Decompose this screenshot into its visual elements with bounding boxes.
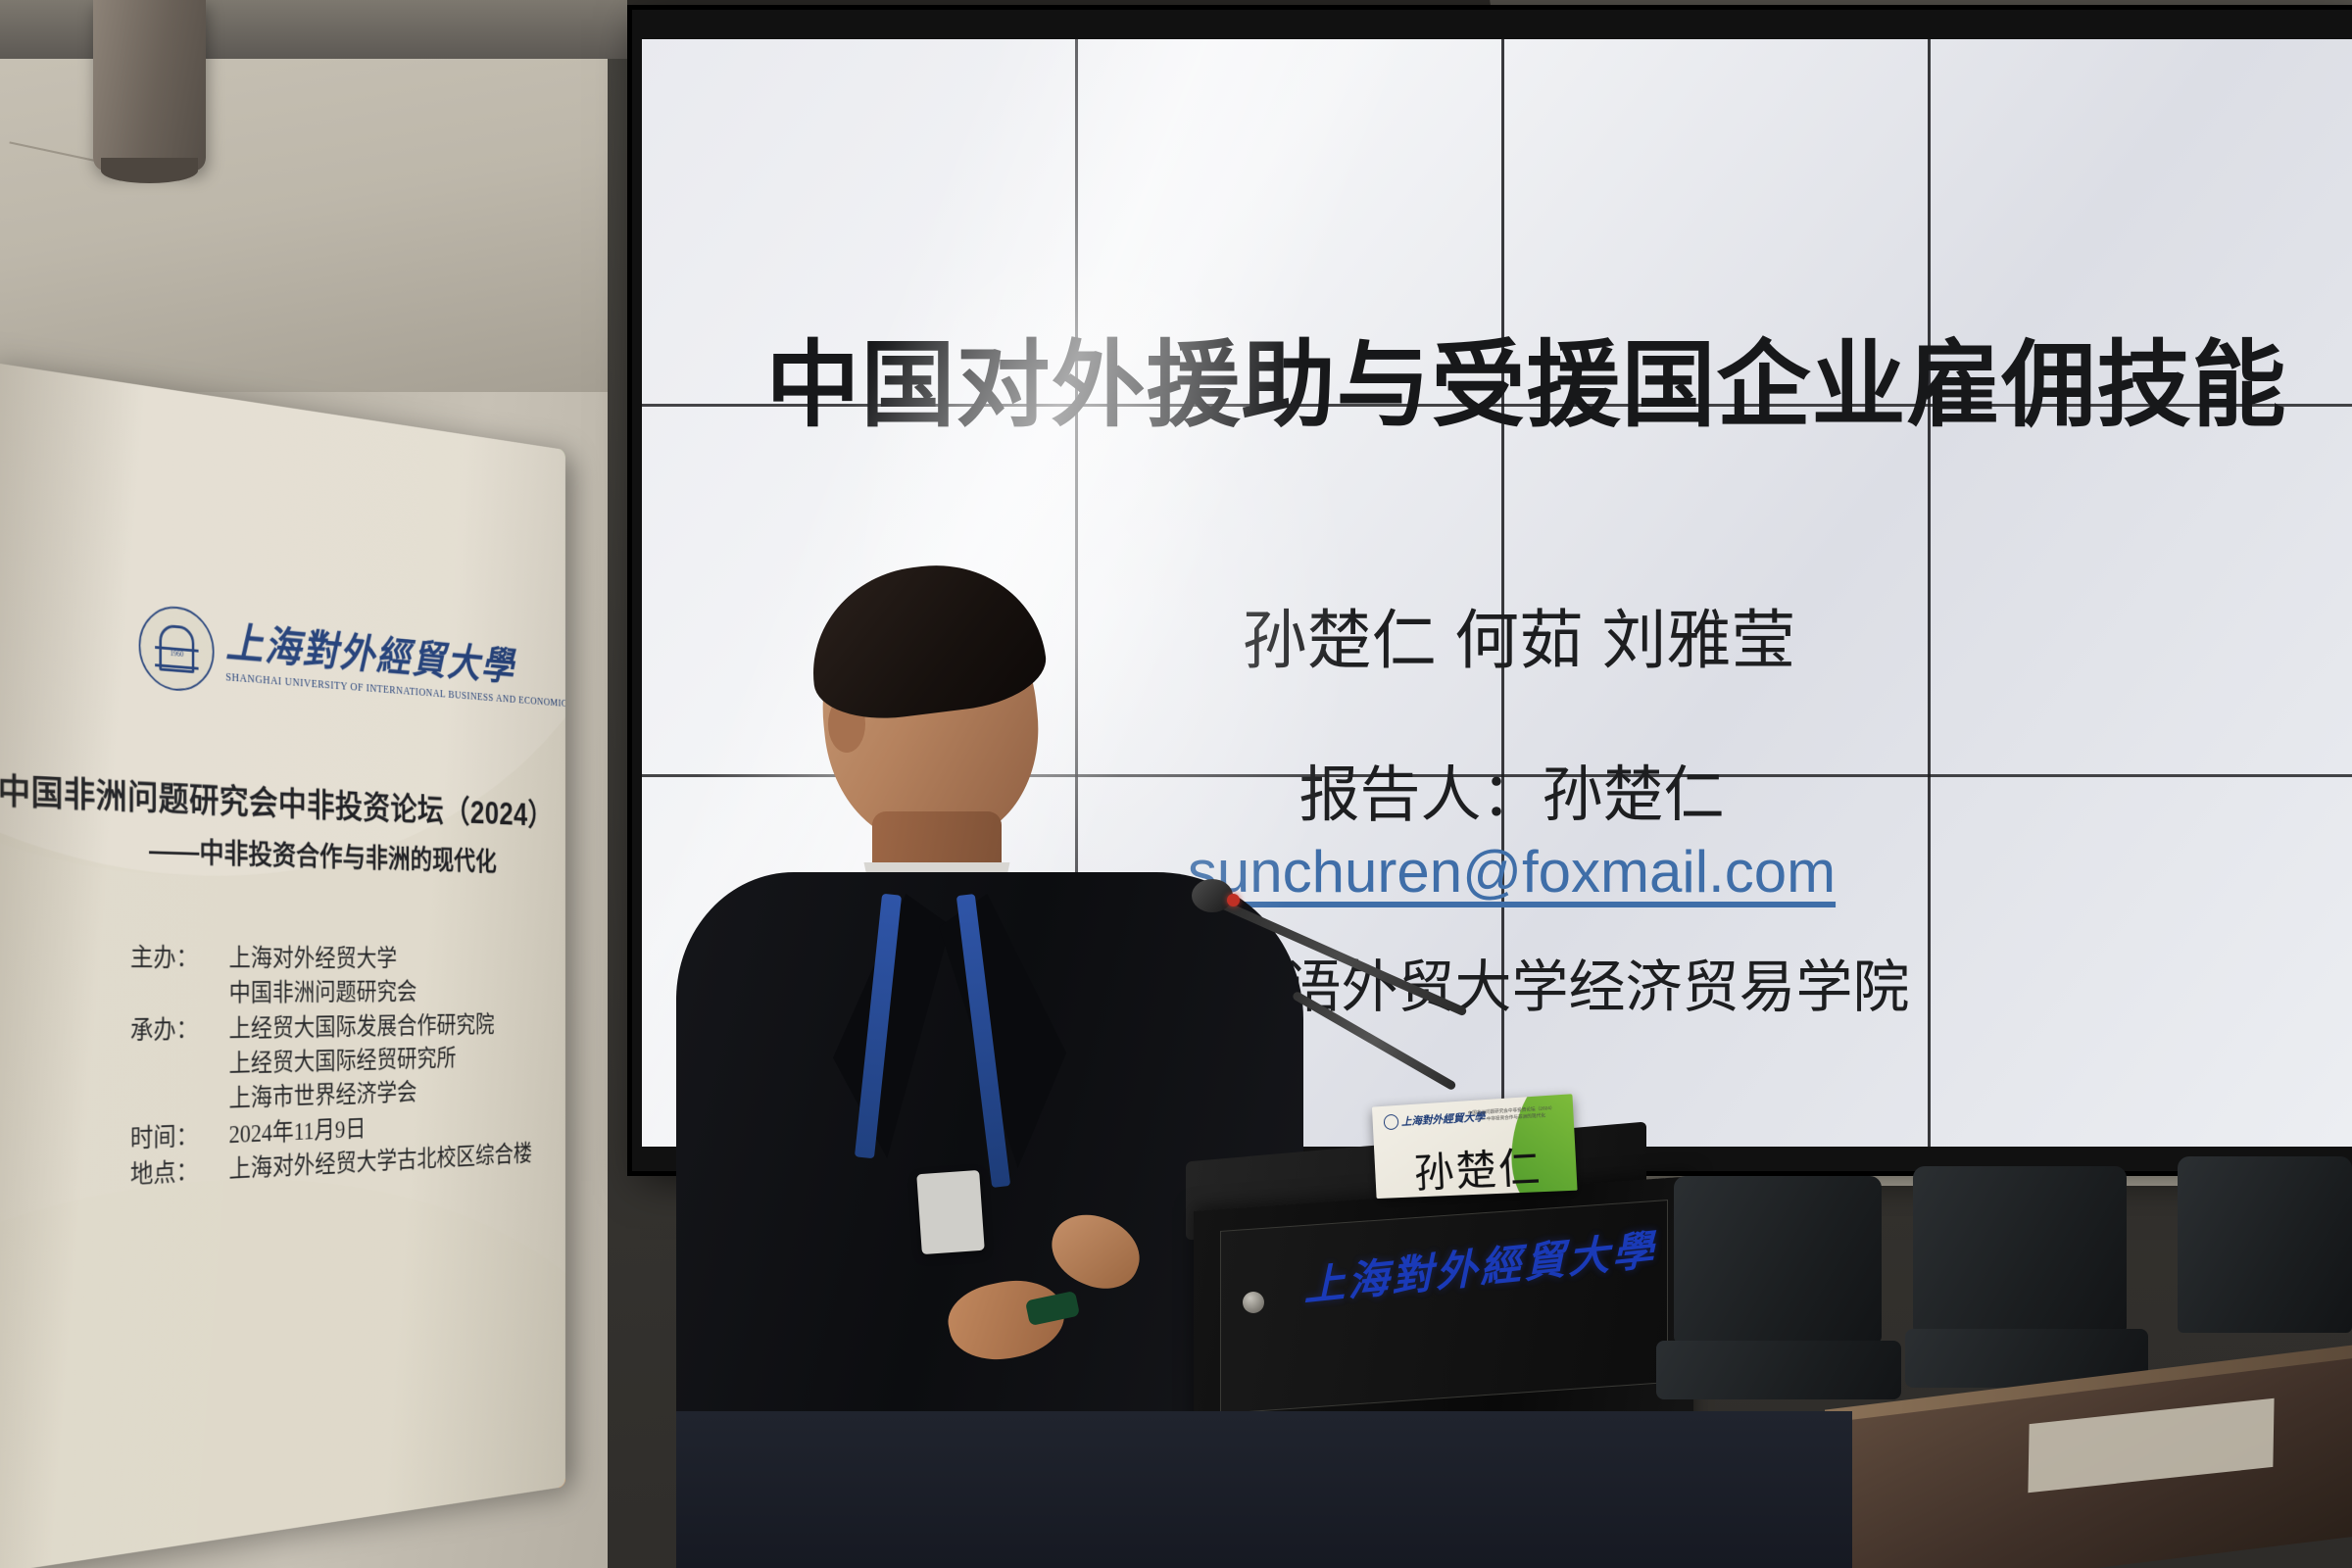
nameplate-speaker-name: 孙楚仁 xyxy=(1374,1132,1578,1199)
floor xyxy=(676,1411,1852,1568)
nameplate-seal-icon xyxy=(1384,1114,1399,1131)
banner-detail-value: 上经贸大国际发展合作研究院 xyxy=(229,1008,495,1047)
banner-detail-value: 上海对外经贸大学 xyxy=(229,941,397,976)
rollup-banner: 1960 上海對外經貿大學 SHANGHAI UNIVERSITY OF INT… xyxy=(0,361,565,1568)
chair-back xyxy=(1674,1176,1882,1343)
seal-year: 1960 xyxy=(171,649,184,659)
banner-detail-label: 主办： xyxy=(130,940,229,976)
banner-detail-row: 主办： 上海对外经贸大学 xyxy=(130,940,532,976)
banner-detail-value: 中国非洲问题研究会 xyxy=(229,975,532,1011)
banner-detail-label: 地点： xyxy=(130,1151,229,1193)
banner-detail-label: 承办： xyxy=(130,1011,229,1049)
university-seal-icon: 1960 xyxy=(139,603,215,693)
conference-photo-scene: 中国对外援助与受援国企业雇佣技能 孙楚仁 何茹 刘雅莹 报告人：孙楚仁 sunc… xyxy=(0,0,2352,1568)
speaker-nameplate: 上海對外經貿大學 中国非洲问题研究会中非投资论坛（2024） ——中非投资合作与… xyxy=(1372,1094,1578,1199)
banner-detail-label: 时间： xyxy=(130,1117,229,1157)
chair-seat xyxy=(1656,1341,1901,1399)
wall-speaker xyxy=(93,0,206,171)
microphone-indicator-light xyxy=(1227,894,1240,906)
speaker-badge xyxy=(916,1170,985,1254)
microphone-head xyxy=(1192,879,1233,912)
slide-title: 中国对外援助与受援国企业雇佣技能 xyxy=(642,309,2352,445)
chair-back xyxy=(1913,1166,2127,1333)
chair-back xyxy=(2178,1156,2352,1333)
banner-details: 主办： 上海对外经贸大学 中国非洲问题研究会 承办： 上经贸大国际发展合作研究院… xyxy=(130,940,532,1193)
podium-fastener xyxy=(1243,1292,1264,1313)
